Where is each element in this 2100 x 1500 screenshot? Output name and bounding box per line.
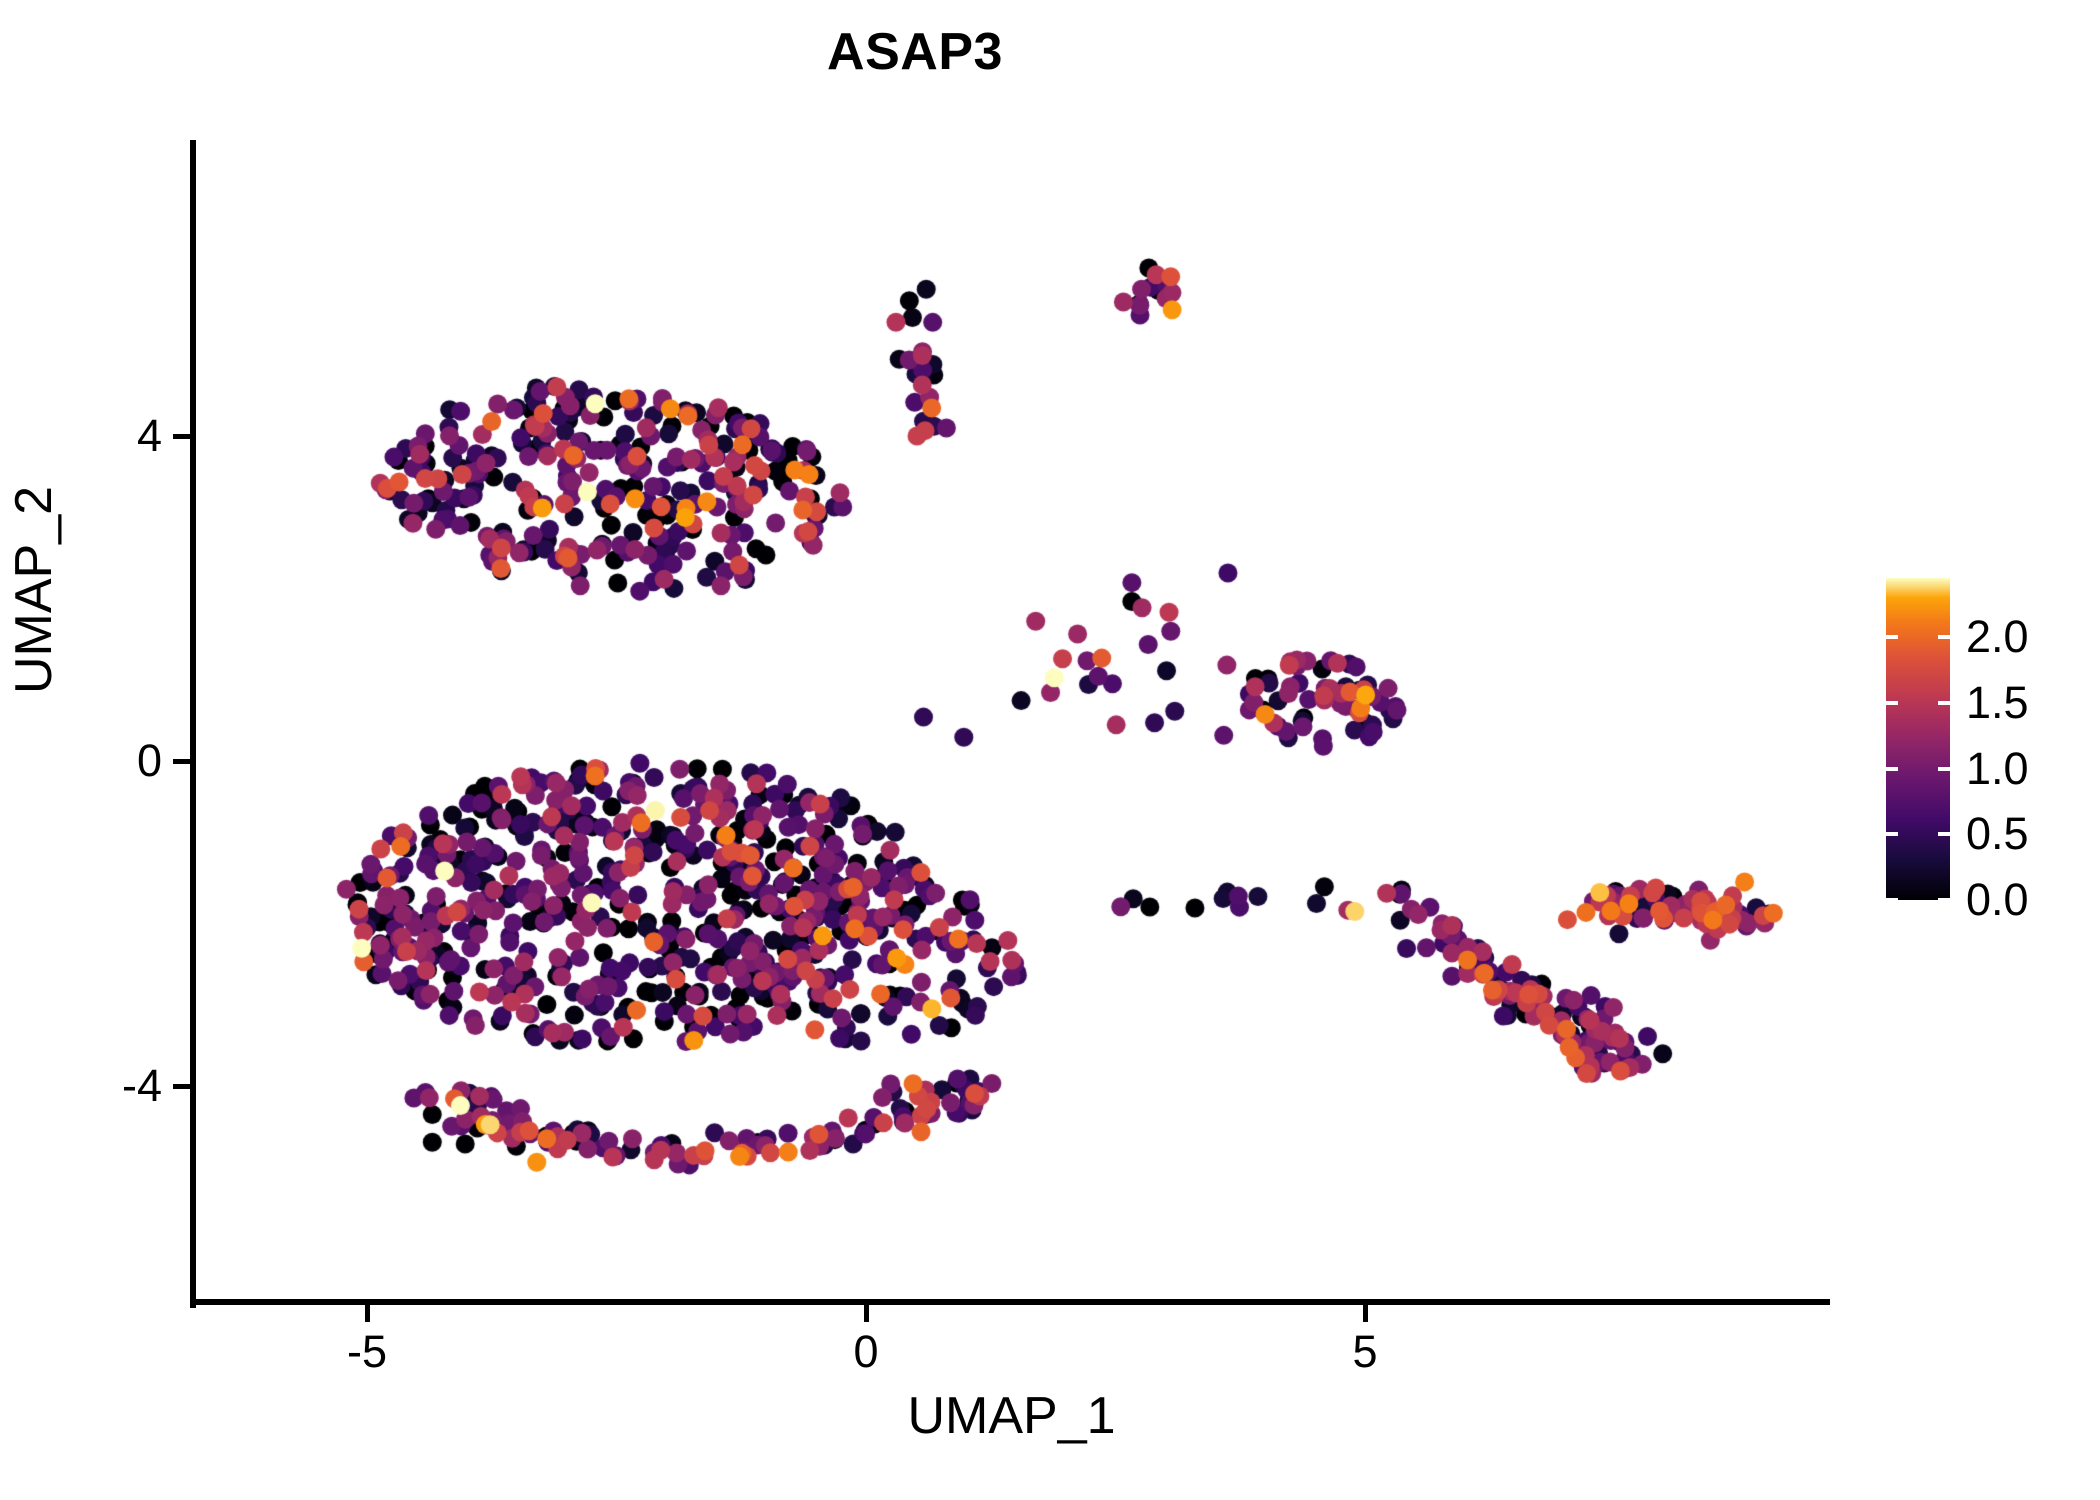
colorbar-tick-label: 1.5 — [1966, 677, 2029, 729]
x-tick-label: 5 — [1305, 1326, 1425, 1378]
x-axis-line — [190, 1299, 1830, 1305]
page-title: ASAP3 — [0, 22, 1830, 82]
colorbar-tick-mark — [1886, 701, 1898, 705]
x-tick-label: -5 — [307, 1326, 427, 1378]
y-tick-label: -4 — [40, 1060, 162, 1112]
x-axis-title: UMAP_1 — [193, 1386, 1830, 1446]
colorbar-tick-mark — [1938, 832, 1950, 836]
y-axis-line — [190, 140, 196, 1308]
y-tick-mark — [173, 434, 190, 439]
colorbar-gradient — [1886, 578, 1950, 900]
umap-feature-plot: ASAP3 -404 -505 UMAP_2 UMAP_1 0.00.51.01… — [0, 0, 2100, 1500]
colorbar-tick-label: 1.0 — [1966, 743, 2029, 795]
colorbar-legend: 0.00.51.01.52.0 — [1886, 578, 2076, 900]
colorbar-tick-mark — [1886, 635, 1898, 639]
y-axis-title: UMAP_2 — [4, 390, 64, 790]
colorbar-tick-label: 0.0 — [1966, 874, 2029, 926]
x-tick-mark — [365, 1305, 370, 1322]
colorbar-tick-mark — [1938, 701, 1950, 705]
colorbar-tick-mark — [1938, 898, 1950, 902]
colorbar-tick-mark — [1938, 635, 1950, 639]
colorbar-tick-mark — [1938, 767, 1950, 771]
y-tick-mark — [173, 1084, 190, 1089]
x-tick-label: 0 — [806, 1326, 926, 1378]
colorbar-tick-mark — [1886, 898, 1898, 902]
scatter-plot-canvas — [193, 140, 1830, 1302]
y-tick-mark — [173, 759, 190, 764]
colorbar-tick-mark — [1886, 767, 1898, 771]
colorbar-tick-mark — [1886, 832, 1898, 836]
x-tick-mark — [1363, 1305, 1368, 1322]
plot-panel — [193, 140, 1830, 1302]
x-tick-mark — [864, 1305, 869, 1322]
colorbar-tick-label: 0.5 — [1966, 808, 2029, 860]
colorbar-tick-label: 2.0 — [1966, 611, 2029, 663]
